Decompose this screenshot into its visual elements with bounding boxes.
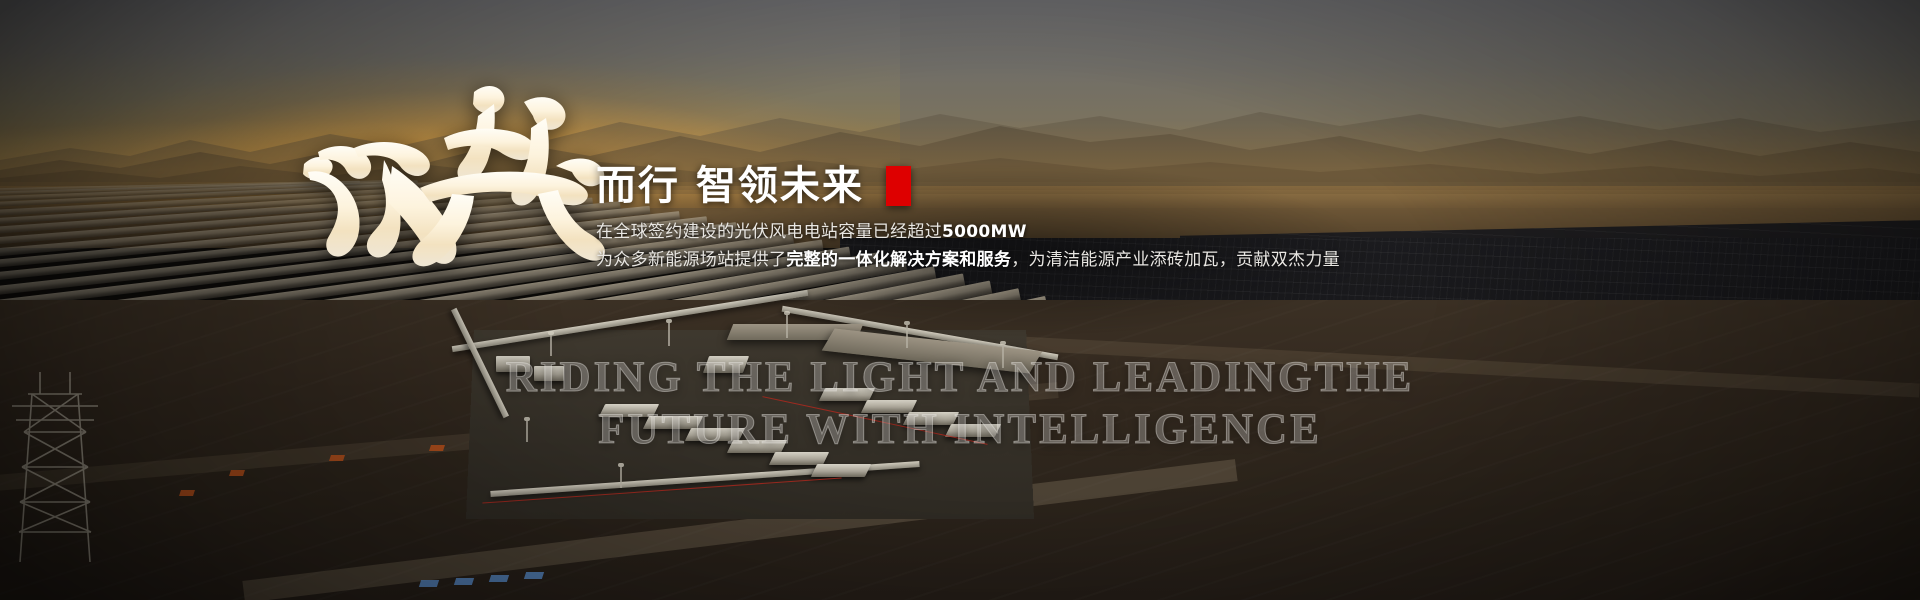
subtitle-line-1: 在全球签约建设的光伏风电电站容量已经超过5000MW bbox=[596, 220, 1496, 246]
equipment-marker bbox=[524, 572, 544, 579]
light-pole bbox=[786, 314, 788, 338]
battery-container bbox=[903, 412, 959, 425]
accent-block bbox=[886, 166, 911, 206]
light-pole bbox=[1002, 344, 1004, 368]
battery-container bbox=[811, 464, 871, 477]
page-title: 而行 智领未来 bbox=[596, 166, 864, 206]
battery-container bbox=[861, 400, 917, 413]
equipment-marker bbox=[454, 578, 474, 585]
hero-copy: 而行 智领未来 在全球签约建设的光伏风电电站容量已经超过5000MW 为众多新能… bbox=[596, 166, 1496, 274]
calligraphy-logo bbox=[288, 56, 618, 276]
site-marker bbox=[329, 455, 345, 461]
subtitle-line-2: 为众多新能源场站提供了完整的一体化解决方案和服务，为清洁能源产业添砖加瓦，贡献双… bbox=[596, 248, 1496, 274]
hero-banner: 而行 智领未来 在全球签约建设的光伏风电电站容量已经超过5000MW 为众多新能… bbox=[0, 0, 1920, 600]
subtitle-1-highlight: 5000MW bbox=[942, 222, 1027, 242]
battery-container bbox=[819, 388, 875, 401]
subtitle-2-text-b: ，为清洁能源产业添砖加瓦，贡献双杰力量 bbox=[1011, 250, 1340, 270]
headline-row: 而行 智领未来 bbox=[596, 166, 1496, 206]
site-marker bbox=[229, 470, 245, 476]
subtitle-2-text-a: 为众多新能源场站提供了 bbox=[596, 250, 786, 270]
transmission-tower-icon bbox=[10, 372, 100, 562]
site-marker bbox=[179, 490, 195, 496]
subtitle-2-highlight: 完整的一体化解决方案和服务 bbox=[786, 250, 1011, 270]
substation-compound bbox=[430, 300, 1070, 530]
light-pole bbox=[550, 334, 552, 356]
light-pole bbox=[668, 322, 670, 346]
equipment-cabinet bbox=[703, 356, 749, 373]
equipment-marker bbox=[419, 580, 439, 587]
site-marker bbox=[429, 445, 445, 451]
calligraphy-strokes bbox=[303, 86, 605, 266]
equipment-marker bbox=[489, 575, 509, 582]
light-pole bbox=[620, 466, 622, 488]
battery-container bbox=[945, 424, 1001, 437]
subtitle-1-text: 在全球签约建设的光伏风电电站容量已经超过 bbox=[596, 222, 942, 242]
light-pole bbox=[526, 420, 528, 442]
equipment-cabinet bbox=[496, 356, 530, 372]
light-pole bbox=[906, 324, 908, 348]
equipment-cabinet bbox=[534, 366, 564, 381]
